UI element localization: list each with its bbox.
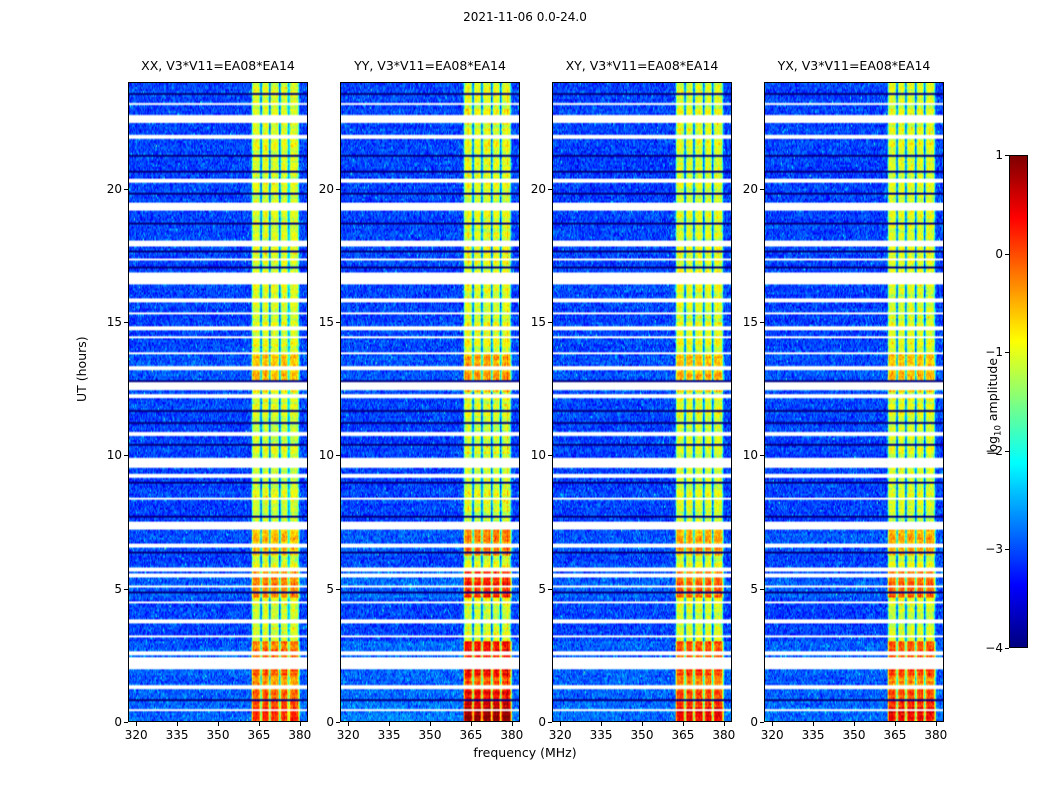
colorbar-label-suffix: amplitude xyxy=(985,358,1000,425)
colorbar-tick-label-3: −2 xyxy=(975,444,1003,458)
x-tick-mark-yx-335 xyxy=(813,722,814,726)
x-tick-mark-xx-365 xyxy=(259,722,260,726)
y-tick-label-yy-0: 0 xyxy=(306,715,334,729)
colorbar-tick-mark-0 xyxy=(1005,155,1009,156)
colorbar xyxy=(1009,155,1028,648)
x-tick-label-xy-380: 380 xyxy=(712,728,735,742)
x-tick-label-xx-350: 350 xyxy=(207,728,230,742)
spectrum-panel-xx[interactable] xyxy=(128,82,308,722)
x-tick-label-yy-350: 350 xyxy=(419,728,442,742)
y-tick-mark-yx-0 xyxy=(760,722,764,723)
spectrum-panel-xy[interactable] xyxy=(552,82,732,722)
x-tick-mark-xy-320 xyxy=(560,722,561,726)
x-tick-mark-yy-365 xyxy=(471,722,472,726)
x-tick-label-yx-320: 320 xyxy=(761,728,784,742)
y-tick-label-yx-10: 10 xyxy=(730,448,758,462)
y-tick-label-xx-0: 0 xyxy=(94,715,122,729)
x-tick-label-xy-350: 350 xyxy=(631,728,654,742)
x-tick-label-yx-365: 365 xyxy=(883,728,906,742)
y-tick-label-yx-0: 0 xyxy=(730,715,758,729)
y-tick-mark-xy-0 xyxy=(548,722,552,723)
x-tick-mark-yy-335 xyxy=(389,722,390,726)
y-tick-label-xy-0: 0 xyxy=(518,715,546,729)
x-tick-mark-xy-365 xyxy=(683,722,684,726)
y-tick-label-xx-5: 5 xyxy=(94,582,122,596)
spectrum-image-yy xyxy=(341,83,519,721)
colorbar-tick-mark-4 xyxy=(1005,549,1009,550)
x-tick-mark-yx-350 xyxy=(854,722,855,726)
figure-canvas: 2021-11-06 0.0-24.0 UT (hours) frequency… xyxy=(0,0,1050,800)
colorbar-tick-mark-2 xyxy=(1005,352,1009,353)
colorbar-tick-label-2: −1 xyxy=(975,345,1003,359)
x-tick-label-yx-380: 380 xyxy=(924,728,947,742)
colorbar-tick-mark-5 xyxy=(1005,648,1009,649)
y-axis-label: UT (hours) xyxy=(74,336,89,402)
y-tick-label-yx-20: 20 xyxy=(730,182,758,196)
colorbar-gradient xyxy=(1010,156,1027,647)
x-tick-mark-xy-335 xyxy=(601,722,602,726)
y-tick-label-xy-5: 5 xyxy=(518,582,546,596)
x-tick-mark-xx-350 xyxy=(218,722,219,726)
x-tick-label-xy-365: 365 xyxy=(671,728,694,742)
y-tick-label-yx-15: 15 xyxy=(730,315,758,329)
spectrum-image-xx xyxy=(129,83,307,721)
colorbar-tick-mark-3 xyxy=(1005,451,1009,452)
x-tick-mark-xy-380 xyxy=(724,722,725,726)
x-tick-mark-xx-380 xyxy=(300,722,301,726)
x-tick-label-xy-320: 320 xyxy=(549,728,572,742)
y-tick-label-xy-20: 20 xyxy=(518,182,546,196)
x-tick-label-xx-380: 380 xyxy=(288,728,311,742)
x-tick-mark-yx-380 xyxy=(936,722,937,726)
spectrum-image-xy xyxy=(553,83,731,721)
y-tick-mark-yy-0 xyxy=(336,722,340,723)
x-tick-mark-xy-350 xyxy=(642,722,643,726)
y-tick-label-xx-15: 15 xyxy=(94,315,122,329)
panel-title-yx: YX, V3*V11=EA08*EA14 xyxy=(764,58,944,73)
x-tick-label-xx-335: 335 xyxy=(166,728,189,742)
x-tick-label-yy-365: 365 xyxy=(459,728,482,742)
x-tick-label-xx-320: 320 xyxy=(125,728,148,742)
x-tick-label-yy-320: 320 xyxy=(337,728,360,742)
colorbar-tick-label-5: −4 xyxy=(975,641,1003,655)
colorbar-label: log10 amplitude xyxy=(985,358,1004,455)
x-tick-label-yx-335: 335 xyxy=(802,728,825,742)
y-tick-label-xy-10: 10 xyxy=(518,448,546,462)
x-axis-label: frequency (MHz) xyxy=(0,745,1050,760)
x-tick-label-xx-365: 365 xyxy=(247,728,270,742)
y-tick-label-yy-5: 5 xyxy=(306,582,334,596)
y-tick-label-yy-10: 10 xyxy=(306,448,334,462)
x-tick-label-yy-380: 380 xyxy=(500,728,523,742)
x-tick-label-xy-335: 335 xyxy=(590,728,613,742)
x-tick-mark-yx-365 xyxy=(895,722,896,726)
x-tick-mark-xx-320 xyxy=(136,722,137,726)
x-tick-mark-yx-320 xyxy=(772,722,773,726)
x-tick-mark-yy-350 xyxy=(430,722,431,726)
y-tick-mark-xx-0 xyxy=(124,722,128,723)
x-tick-mark-yy-320 xyxy=(348,722,349,726)
y-tick-label-yy-20: 20 xyxy=(306,182,334,196)
x-tick-label-yx-350: 350 xyxy=(843,728,866,742)
y-tick-label-xx-20: 20 xyxy=(94,182,122,196)
spectrum-panel-yy[interactable] xyxy=(340,82,520,722)
y-tick-label-yx-5: 5 xyxy=(730,582,758,596)
spectrum-image-yx xyxy=(765,83,943,721)
x-tick-mark-yy-380 xyxy=(512,722,513,726)
y-tick-label-yy-15: 15 xyxy=(306,315,334,329)
colorbar-tick-label-0: 1 xyxy=(975,148,1003,162)
colorbar-label-sub: 10 xyxy=(994,425,1004,436)
figure-suptitle: 2021-11-06 0.0-24.0 xyxy=(0,10,1050,24)
colorbar-tick-label-1: 0 xyxy=(975,247,1003,261)
x-tick-mark-xx-335 xyxy=(177,722,178,726)
y-tick-label-xx-10: 10 xyxy=(94,448,122,462)
panel-title-yy: YY, V3*V11=EA08*EA14 xyxy=(340,58,520,73)
panel-title-xy: XY, V3*V11=EA08*EA14 xyxy=(552,58,732,73)
panel-title-xx: XX, V3*V11=EA08*EA14 xyxy=(128,58,308,73)
colorbar-tick-label-4: −3 xyxy=(975,542,1003,556)
y-tick-label-xy-15: 15 xyxy=(518,315,546,329)
colorbar-tick-mark-1 xyxy=(1005,254,1009,255)
x-tick-label-yy-335: 335 xyxy=(378,728,401,742)
spectrum-panel-yx[interactable] xyxy=(764,82,944,722)
